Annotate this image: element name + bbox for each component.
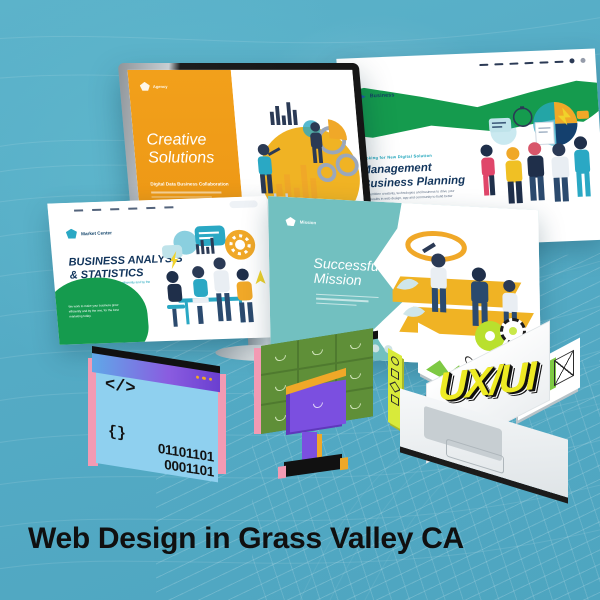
market-center-logo: Market Center bbox=[66, 227, 113, 239]
cabinet-drawer-cell[interactable] bbox=[337, 328, 373, 362]
heading: SuccessfulMission bbox=[313, 256, 382, 290]
pentagon-logo-icon bbox=[66, 229, 78, 239]
team-illustration bbox=[150, 218, 275, 339]
titlebar-top-shadow bbox=[92, 346, 220, 373]
logo-text: Business bbox=[370, 92, 395, 99]
pentagon-logo-icon bbox=[139, 82, 150, 91]
binary-text: 01101101 0001101 bbox=[158, 441, 214, 480]
mission-logo: Mission bbox=[285, 217, 316, 228]
drawer-handle-icon bbox=[313, 403, 323, 410]
subheading: Digital Data Business Collaboration bbox=[150, 181, 229, 186]
logo-text: Market Center bbox=[81, 230, 112, 236]
cabinet-drawer-cell[interactable] bbox=[261, 340, 297, 374]
mockup-uxui-laptop[interactable]: UX/UI bbox=[382, 318, 582, 484]
nav-placeholder bbox=[479, 58, 586, 67]
cabinet-open-drawer[interactable] bbox=[290, 380, 346, 433]
browser-topbar bbox=[47, 196, 267, 219]
logo-text: Agency bbox=[153, 84, 168, 89]
heading: CreativeSolutions bbox=[146, 132, 215, 167]
mockup-code-window[interactable]: </> {} 01101101 0001101 bbox=[88, 352, 226, 470]
pentagon-logo-icon bbox=[285, 217, 295, 226]
agency-logo: Agency bbox=[139, 82, 167, 91]
logo-text: Mission bbox=[300, 219, 317, 225]
window-control-dots[interactable] bbox=[196, 375, 212, 381]
cabinet-base bbox=[284, 454, 342, 477]
mockup-stage: Business Looking for New Digital Solutio… bbox=[0, 0, 600, 600]
page-title: Web Design in Grass Valley CA bbox=[28, 522, 464, 556]
blob-text: We work to make your business grow effic… bbox=[68, 303, 125, 319]
search-pill[interactable] bbox=[229, 200, 258, 208]
code-tag-icon: </> bbox=[105, 375, 136, 399]
mockup-business-analysis[interactable]: Market Center BUSINESS ANALYSIS& STATIST… bbox=[47, 196, 278, 345]
crossed-placeholder-icon bbox=[554, 350, 574, 387]
mockup-file-cabinet[interactable] bbox=[254, 340, 382, 480]
cabinet-drawer-cell[interactable] bbox=[299, 334, 335, 368]
gear-icon bbox=[478, 324, 502, 348]
curly-brace-icon: {} bbox=[108, 423, 126, 443]
people-illustration bbox=[457, 92, 600, 221]
kicker-text: Looking for New Digital Solution bbox=[360, 153, 432, 161]
